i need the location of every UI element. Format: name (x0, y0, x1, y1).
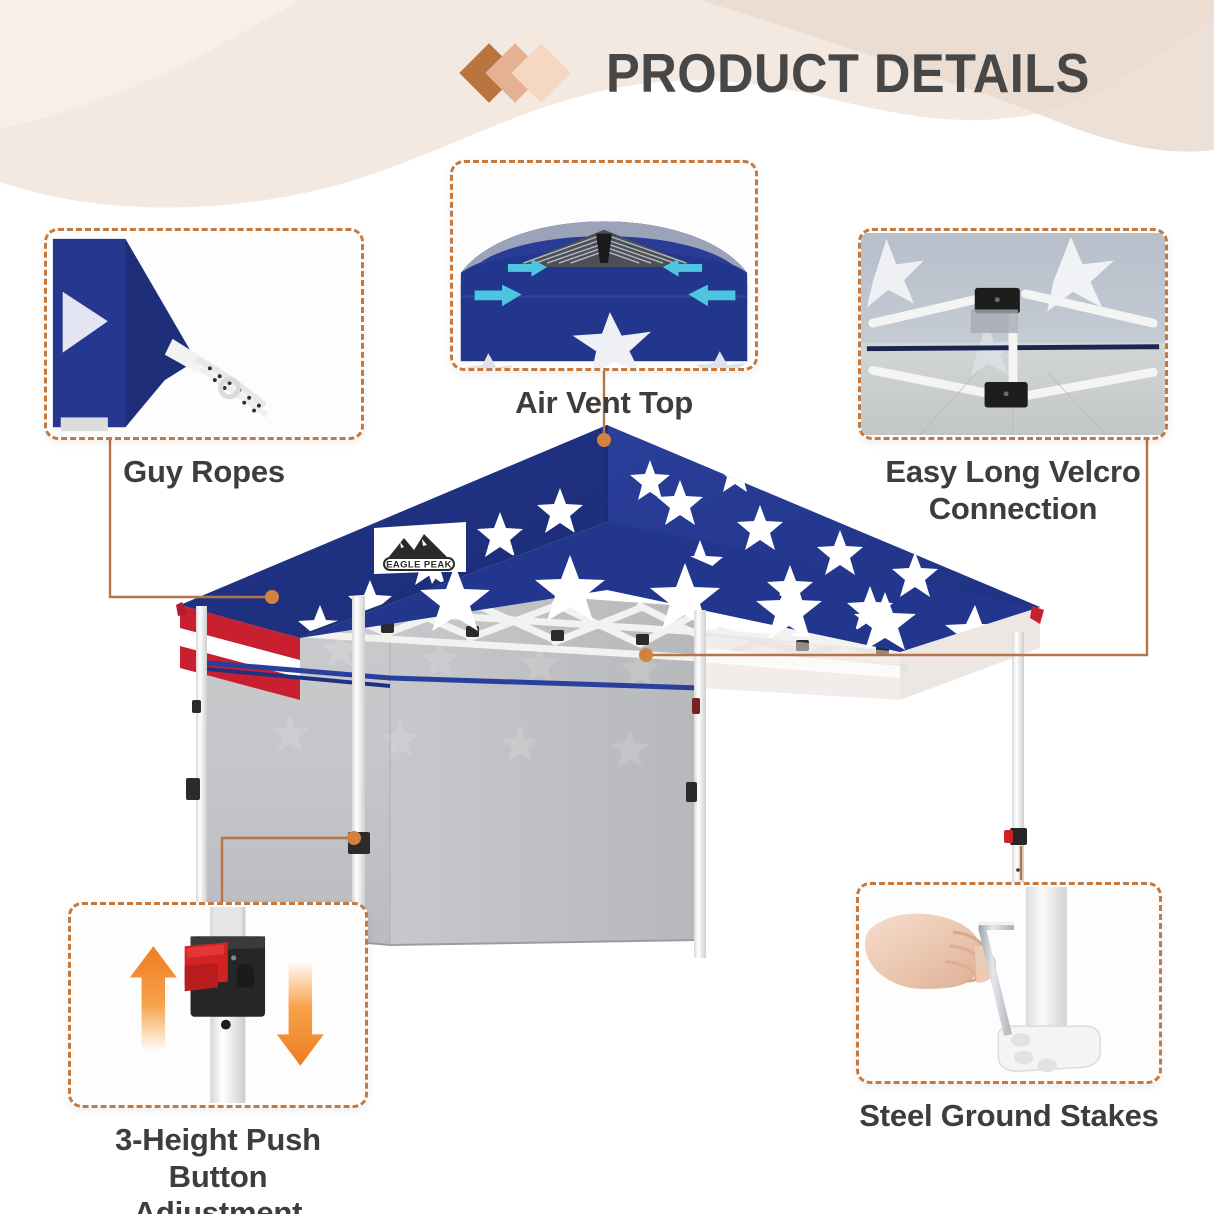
guy-ropes-photo (47, 231, 361, 437)
callout-air-vent-top-label: Air Vent Top (450, 385, 758, 422)
callout-height-adjustment-label: 3-Height Push ButtonAdjustment (68, 1122, 368, 1214)
callout-velcro-connection: Easy Long VelcroConnection (858, 228, 1168, 527)
svg-text:EAGLE PEAK: EAGLE PEAK (386, 560, 452, 571)
diamond-accent-icon (468, 38, 580, 108)
air-vent-photo (453, 163, 755, 368)
callout-height-adjustment: 3-Height Push ButtonAdjustment (68, 902, 368, 1214)
callout-ground-stakes: Steel Ground Stakes (856, 882, 1162, 1135)
callout-velcro-connection-frame (858, 228, 1168, 440)
page-title: PRODUCT DETAILS (606, 41, 1090, 105)
ground-stakes-photo (859, 885, 1159, 1081)
push-button-photo (71, 905, 365, 1105)
callout-air-vent-top-frame (450, 160, 758, 371)
infographic-canvas: PRODUCT DETAILS (0, 0, 1214, 1214)
callout-guy-ropes-frame (44, 228, 364, 440)
callout-ground-stakes-frame (856, 882, 1162, 1084)
callout-guy-ropes: Guy Ropes (44, 228, 364, 491)
page-header: PRODUCT DETAILS (468, 38, 1132, 108)
callout-velcro-connection-label: Easy Long VelcroConnection (858, 454, 1168, 527)
callout-air-vent-top: Air Vent Top (450, 160, 758, 422)
velcro-connection-photo (861, 231, 1165, 437)
callout-height-adjustment-frame (68, 902, 368, 1108)
callout-guy-ropes-label: Guy Ropes (44, 454, 364, 491)
callout-ground-stakes-label: Steel Ground Stakes (856, 1098, 1162, 1135)
